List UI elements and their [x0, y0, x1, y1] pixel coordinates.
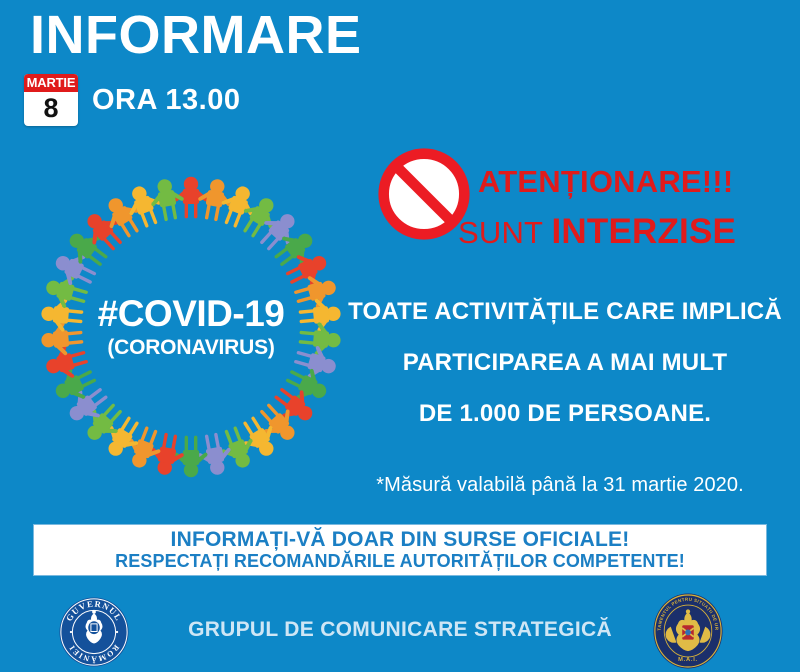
people-holding-hands-ring-icon	[26, 162, 356, 492]
official-sources-banner: INFORMAȚI-VĂ DOAR DIN SURSE OFICIALE! RE…	[33, 524, 767, 576]
banner-line-1: INFORMAȚI-VĂ DOAR DIN SURSE OFICIALE!	[171, 528, 630, 551]
hour-label: ORA 13.00	[92, 84, 241, 117]
message-line-1: TOATE ACTIVITĂȚILE CARE IMPLICĂ	[340, 300, 790, 324]
message-line-3: DE 1.000 DE PERSOANE.	[340, 402, 790, 426]
page-title: INFORMARE	[30, 8, 361, 62]
warning-subheadline: SUNT INTERZISE	[458, 212, 736, 252]
date-time-row: MARTIE 8 ORA 13.00	[24, 74, 241, 126]
calendar-month-label: MARTIE	[24, 74, 78, 92]
informare-poster: INFORMARE MARTIE 8 ORA 13.00 #COVID-1	[0, 0, 800, 672]
svg-text:M.A.I.: M.A.I.	[678, 657, 698, 663]
main-message: TOATE ACTIVITĂȚILE CARE IMPLICĂ PARTICIP…	[340, 300, 790, 426]
message-line-2: PARTICIPAREA A MAI MULT	[340, 351, 790, 375]
calendar-icon: MARTIE 8	[24, 74, 78, 126]
footnote-text: *Măsură valabilă până la 31 martie 2020.	[330, 474, 790, 497]
warning-sunt-text: SUNT	[458, 215, 543, 250]
banner-line-2: RESPECTAȚI RECOMANDĂRILE AUTORITĂȚILOR C…	[115, 551, 685, 572]
calendar-day-label: 8	[24, 92, 78, 126]
footer-organization-label: GRUPUL DE COMUNICARE STRATEGICĂ	[0, 618, 800, 642]
warning-interzise-text: INTERZISE	[551, 212, 736, 251]
warning-headline: ATENȚIONARE!!!	[478, 164, 733, 200]
